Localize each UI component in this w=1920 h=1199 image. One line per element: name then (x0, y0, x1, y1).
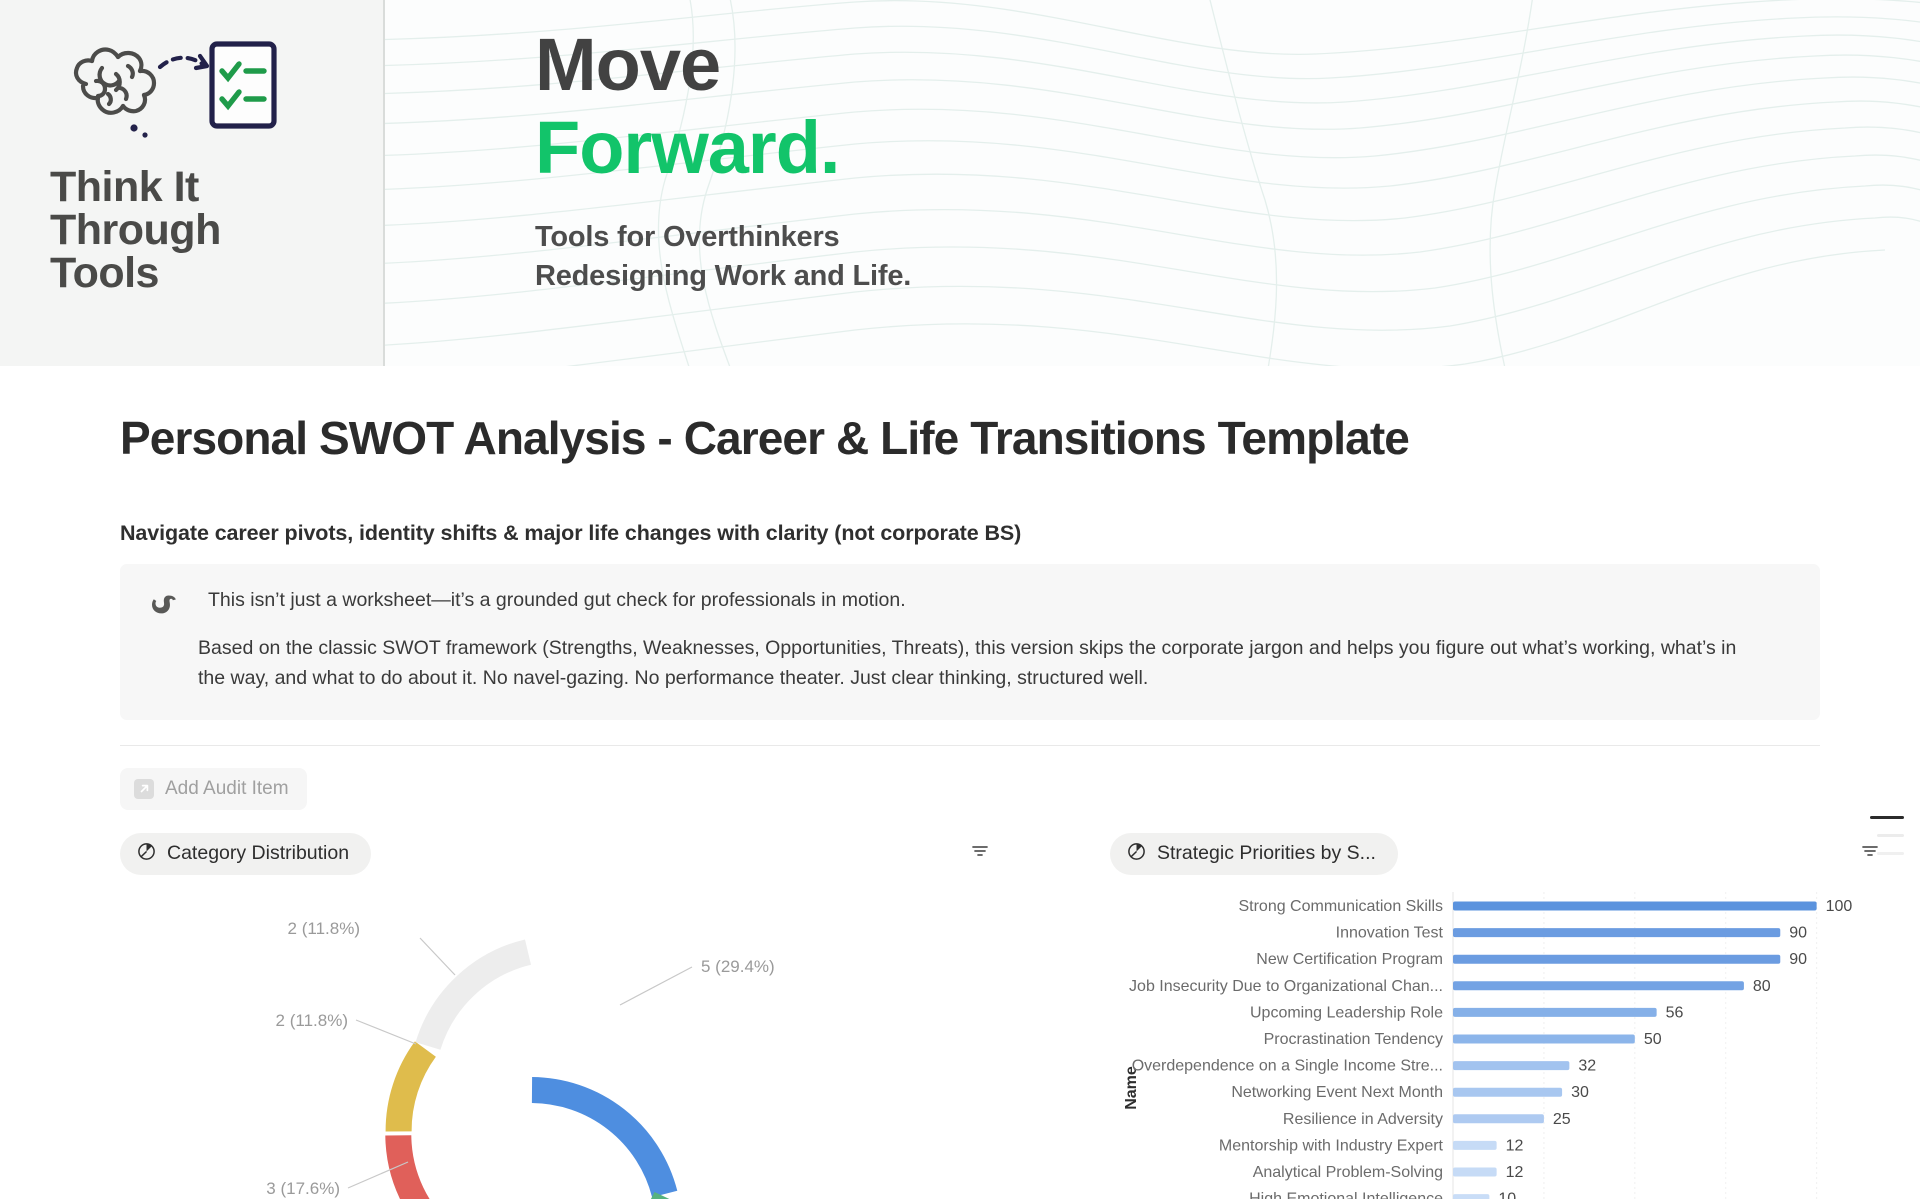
info-callout: This isn’t just a worksheet—it’s a groun… (120, 564, 1820, 720)
pie-chart-icon (137, 842, 156, 866)
bar-category-label: Procrastination Tendency (1264, 1031, 1443, 1048)
chart-title-label: Strategic Priorities by S... (1157, 842, 1376, 865)
bar[interactable] (1453, 901, 1817, 910)
bar-category-label: Strong Communication Skills (1238, 898, 1443, 915)
bar-value-label: 32 (1578, 1057, 1596, 1074)
logo-artwork (50, 38, 320, 146)
banner-tagline-line-2: Redesigning Work and Life. (535, 257, 911, 296)
banner: Move Forward. Tools for Overthinkers Red… (385, 0, 1920, 366)
filter-icon[interactable] (970, 841, 990, 866)
logo-line-2: Through (50, 209, 383, 252)
donut-chart-wrap: 5 (29.4%) 2 (11.8%) 2 (11.8%) 3 (17.6%) (120, 876, 1010, 1199)
bar-category-label: Mentorship with Industry Expert (1219, 1137, 1444, 1154)
arrow-up-right-icon (134, 779, 154, 799)
bar-category-label: Innovation Test (1336, 924, 1444, 941)
bar[interactable] (1453, 1114, 1544, 1123)
bar-value-label: 10 (1498, 1190, 1516, 1199)
bar-category-label: Networking Event Next Month (1231, 1084, 1443, 1101)
outline-rail-line[interactable] (1877, 852, 1904, 855)
bar[interactable] (1453, 1061, 1569, 1070)
banner-tagline: Tools for Overthinkers Redesigning Work … (535, 218, 911, 297)
bar-value-label: 12 (1506, 1137, 1524, 1154)
document-outline-rail[interactable] (1866, 816, 1904, 855)
bar-chart[interactable]: Name Strong Communication Skills100Innov… (1110, 892, 1920, 1199)
donut-slice-red (398, 1135, 459, 1199)
bar-category-label: Upcoming Leadership Role (1250, 1004, 1443, 1021)
section-divider (120, 745, 1820, 746)
donut-slice-blue (532, 1090, 665, 1194)
donut-chart[interactable]: 5 (29.4%) 2 (11.8%) 2 (11.8%) 3 (17.6%) (120, 890, 1010, 1199)
outline-rail-line-active[interactable] (1870, 816, 1904, 819)
donut-slice-gray (428, 952, 528, 1046)
bar-value-label: 100 (1826, 898, 1853, 915)
logo-wordmark: Think It Through Tools (50, 166, 383, 295)
bar[interactable] (1453, 1194, 1489, 1199)
bar[interactable] (1453, 1087, 1562, 1096)
bar-category-label: High Emotional Intelligence (1249, 1190, 1443, 1199)
bar-category-label: Overdependence on a Single Income Stre..… (1132, 1057, 1443, 1074)
bar-value-label: 50 (1644, 1031, 1662, 1048)
pie-chart-icon (1127, 842, 1146, 866)
bar[interactable] (1453, 928, 1780, 937)
logo-line-3: Tools (50, 252, 383, 295)
chart-panel-category-distribution: Category Distribution (120, 832, 1010, 1199)
callout-paragraph: Based on the classic SWOT framework (Str… (198, 633, 1768, 693)
bar-category-label: Resilience in Adversity (1283, 1110, 1443, 1127)
donut-slice-yellow (399, 1049, 426, 1131)
bar-value-label: 56 (1666, 1004, 1684, 1021)
bar-value-label: 90 (1789, 924, 1807, 941)
bar[interactable] (1453, 1034, 1635, 1043)
banner-headline-dark: Move (535, 24, 911, 107)
bar-category-label: New Certification Program (1256, 951, 1443, 968)
logo-panel: Think It Through Tools (0, 0, 385, 366)
charts-row: Category Distribution (0, 832, 1920, 1199)
bar[interactable] (1453, 1008, 1657, 1017)
bar[interactable] (1453, 1141, 1497, 1150)
bar-series: Strong Communication Skills100Innovation… (1129, 898, 1852, 1199)
logo-line-1: Think It (50, 166, 383, 209)
chart-title-label: Category Distribution (167, 842, 349, 865)
bar[interactable] (1453, 954, 1780, 963)
chart-panel-strategic-priorities: Strategic Priorities by S... Name (1110, 832, 1900, 1199)
chart-header: Strategic Priorities by S... (1110, 832, 1900, 876)
page-title: Personal SWOT Analysis - Career & Life T… (120, 411, 1920, 465)
callout-body: This isn’t just a worksheet—it’s a groun… (198, 586, 1790, 694)
bar-value-label: 80 (1753, 977, 1771, 994)
donut-label-blue: 5 (29.4%) (701, 957, 775, 976)
bar-value-label: 30 (1571, 1084, 1589, 1101)
bar-category-label: Analytical Problem-Solving (1253, 1164, 1443, 1181)
bar-value-label: 90 (1789, 951, 1807, 968)
bar-value-label: 25 (1553, 1110, 1571, 1127)
banner-text-block: Move Forward. Tools for Overthinkers Red… (535, 24, 911, 297)
chart-header: Category Distribution (120, 832, 1010, 876)
stomach-icon (150, 586, 182, 627)
add-audit-item-label: Add Audit Item (165, 778, 289, 800)
banner-tagline-line-1: Tools for Overthinkers (535, 218, 911, 257)
bar-value-label: 12 (1506, 1164, 1524, 1181)
add-audit-item-button[interactable]: Add Audit Item (120, 768, 307, 810)
chart-title-chip-strategic-priorities[interactable]: Strategic Priorities by S... (1110, 833, 1398, 875)
bar[interactable] (1453, 981, 1744, 990)
donut-label-red: 3 (17.6%) (266, 1179, 340, 1198)
site-header: Think It Through Tools (0, 0, 1920, 366)
document-body: Personal SWOT Analysis - Career & Life T… (0, 411, 1920, 1199)
outline-rail-line[interactable] (1877, 834, 1904, 837)
donut-label-yellow: 2 (11.8%) (276, 1011, 348, 1030)
bar-chart-wrap: Name Strong Communication Skills100Innov… (1110, 876, 1900, 1199)
banner-headline-accent: Forward. (535, 107, 911, 190)
bar[interactable] (1453, 1167, 1497, 1176)
callout-lead: This isn’t just a worksheet—it’s a groun… (198, 586, 1790, 615)
donut-label-gray: 2 (11.8%) (288, 919, 360, 938)
chart-title-chip-category-distribution[interactable]: Category Distribution (120, 833, 371, 875)
bar-category-label: Job Insecurity Due to Organizational Cha… (1129, 977, 1443, 994)
page-subtitle: Navigate career pivots, identity shifts … (120, 521, 1920, 546)
